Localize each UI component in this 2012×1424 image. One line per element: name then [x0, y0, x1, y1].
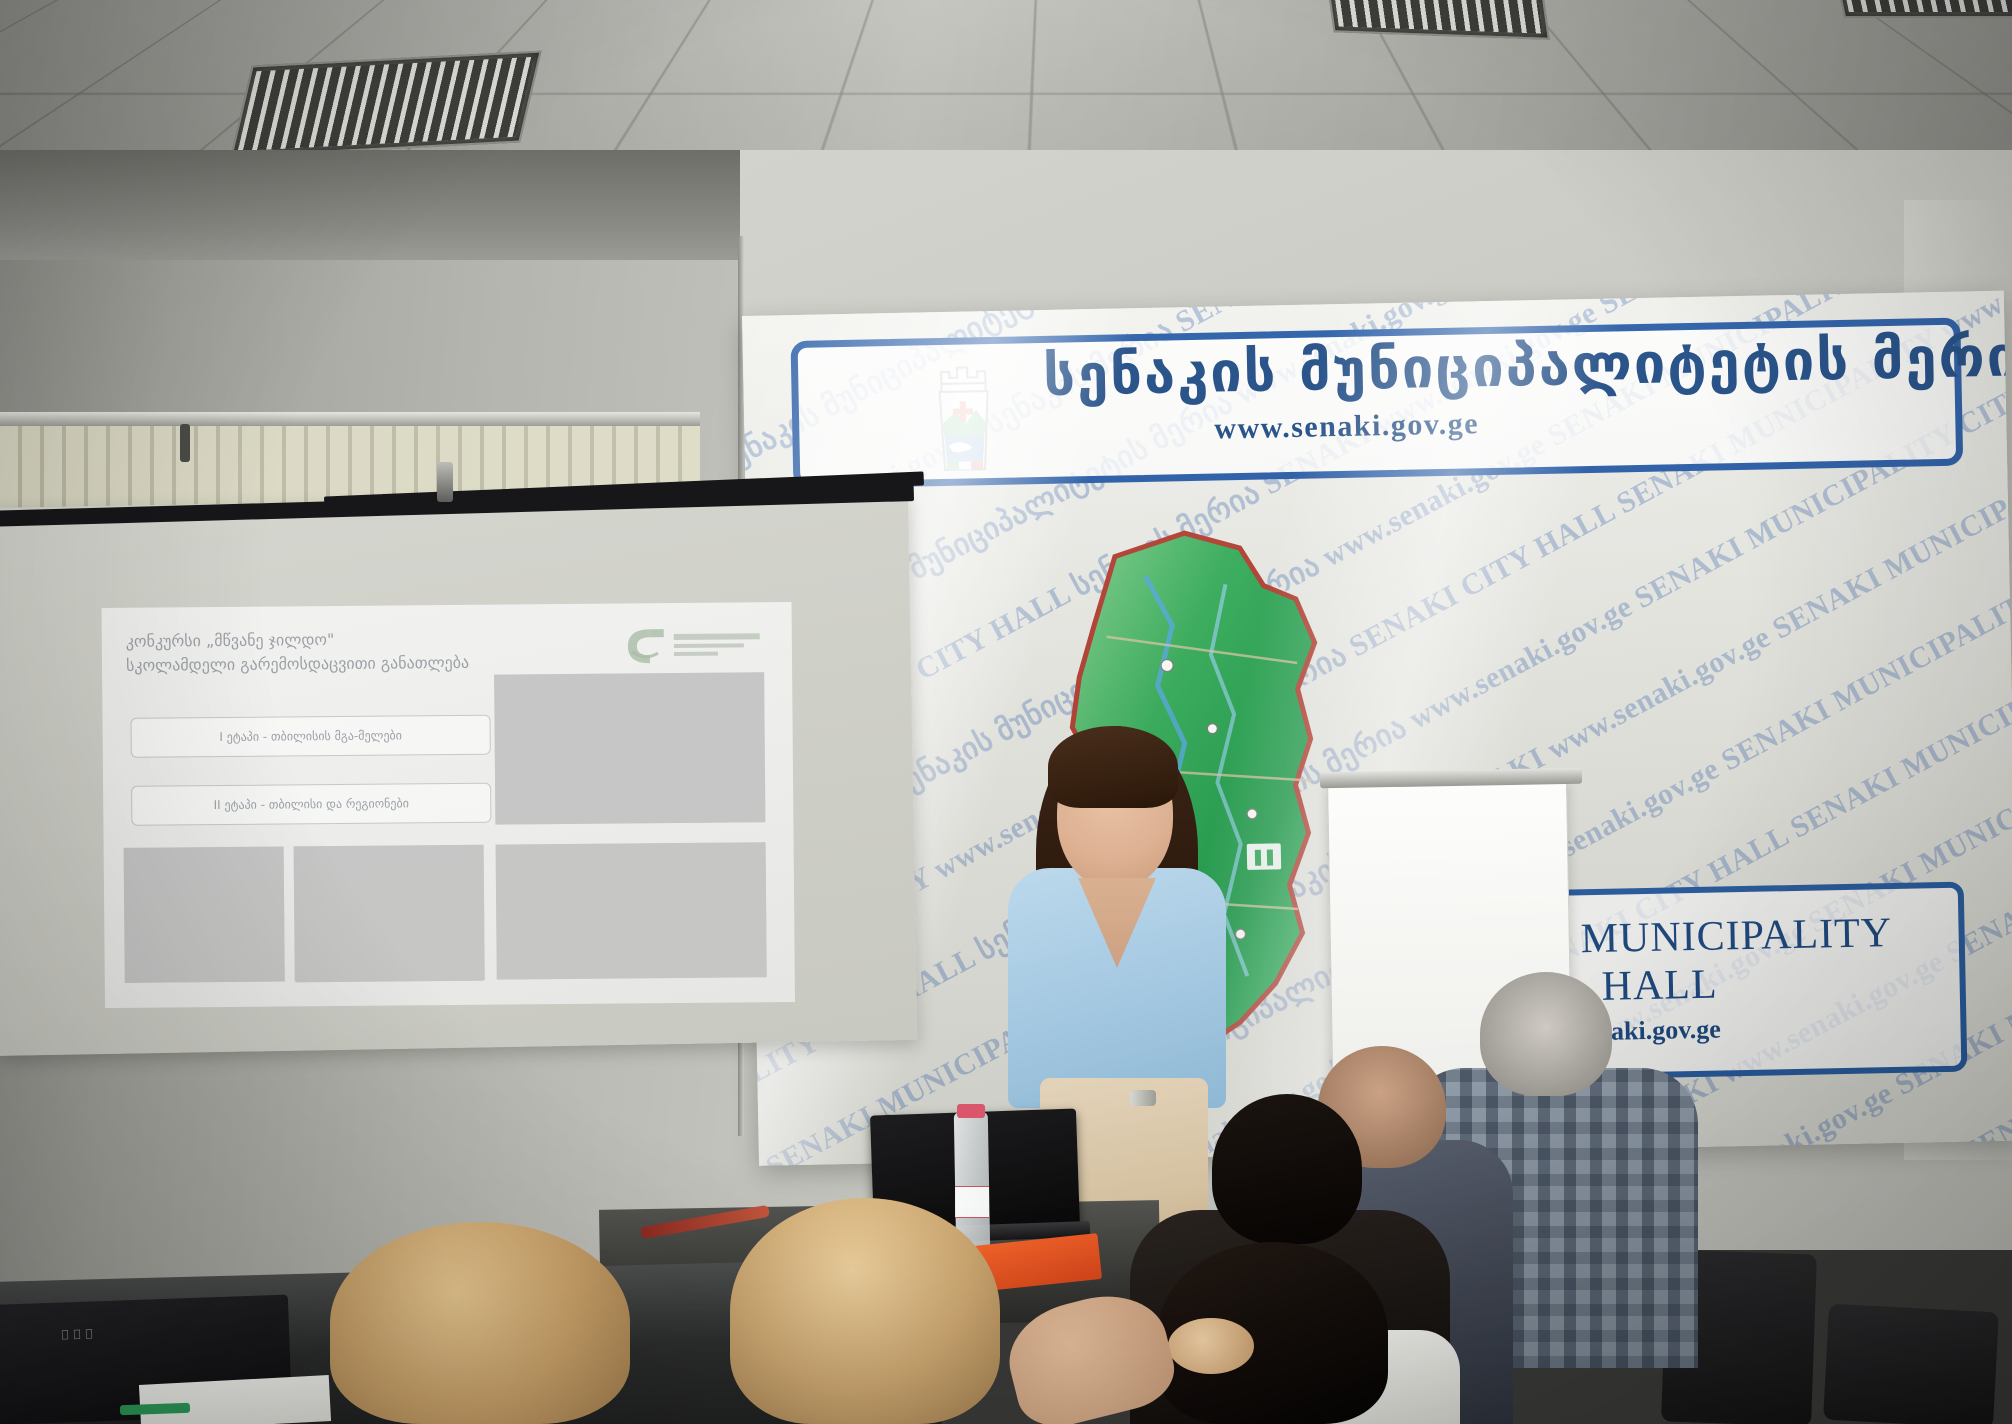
audience-dark-hair-head — [1212, 1094, 1362, 1244]
presentation-slide: კონკურსი „მწვანე ჯილდო" სკოლამდელი გარემ… — [102, 602, 795, 1008]
projector-screen: კონკურსი „მწვანე ჯილდო" სკოლამდელი გარემ… — [0, 492, 917, 1056]
slide-stage-label-1: I ეტაპი - თბილისის მგა-მელები — [219, 728, 402, 744]
slide-photo-award-ceremony — [494, 672, 765, 824]
slide-title-block: კონკურსი „მწვანე ჯილდო" სკოლამდელი გარემ… — [126, 626, 546, 678]
ceiling-light-panel-c — [1836, 0, 2012, 18]
slide-stage-box-1: I ეტაპი - თბილისის მგა-მელები — [130, 715, 490, 758]
banner-secondary-url: naki.gov.ge — [1596, 1015, 1721, 1047]
water-bottle-cap[interactable] — [957, 1104, 985, 1118]
water-bottle-label — [955, 1186, 989, 1218]
green-education-logo — [620, 624, 770, 667]
slide-title-line1: კონკურსი „მწვანე ჯილდო" — [126, 626, 546, 654]
presenter-wristwatch — [1130, 1090, 1156, 1106]
projector-screen-assembly: კონკურსი „მწვანე ჯილდო" სკოლამდელი გარემ… — [0, 498, 914, 1058]
banner-url: www.senaki.gov.ge — [1214, 407, 1479, 446]
monitor-label: ⎕ ⎕ ⎕ — [62, 1329, 92, 1341]
audience-member-blonde-front-center — [730, 1198, 1000, 1424]
banner-secondary-line2: HALL — [1601, 961, 1718, 1011]
left-wall-upper-shadow — [0, 150, 740, 260]
blinds-control-knob[interactable] — [180, 424, 190, 462]
ceiling-light-panel-a — [230, 51, 541, 158]
slide-stage-box-2: II ეტაპი - თბილისი და რეგიონები — [131, 783, 491, 826]
slide-title-line2: სკოლამდელი გარემოსდაცვითი განათლება — [126, 650, 546, 678]
blinds-rail — [0, 412, 700, 426]
audience-grey-hair-head — [1480, 972, 1612, 1096]
hair-scrunchie — [1168, 1318, 1254, 1374]
audience-member-blonde-front-left — [330, 1222, 630, 1424]
slide-stage-label-2: II ეტაპი - თბილისი და რეგიონები — [214, 796, 409, 812]
slide-photo-office-plant — [124, 846, 285, 982]
banner-secondary-line1: MUNICIPALITY — [1580, 909, 1892, 963]
slide-photo-conference-audience — [294, 845, 485, 982]
meeting-room-scene: SENAKI MUNICIPALITY CITY HALL სენაკის მუ… — [0, 0, 2012, 1424]
chair-right-2[interactable] — [1823, 1304, 1999, 1424]
presenter-hair — [1048, 726, 1178, 808]
slide-photo-certificate-group — [496, 842, 767, 979]
projector-screen-mount — [437, 462, 453, 502]
